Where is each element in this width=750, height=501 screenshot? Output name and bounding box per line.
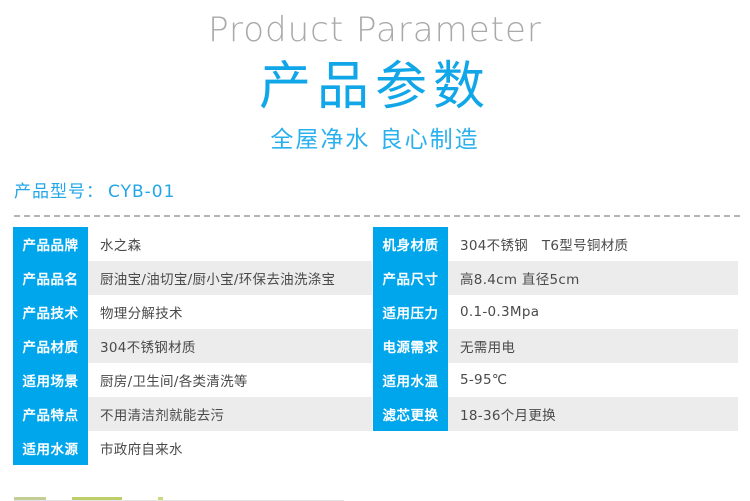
spec_table_right-label-2: 适用压力 [373, 295, 448, 329]
spec_table_left-label-3: 产品材质 [13, 329, 88, 363]
spec_table_right-value-5: 18-36个月更换 [448, 397, 738, 431]
spec_table_left-label-1: 产品品名 [13, 261, 88, 295]
table-row: 产品品名厨油宝/油切宝/厨小宝/环保去油洗涤宝 [13, 261, 372, 295]
table-row: 适用压力0.1-0.3Mpa [373, 295, 738, 329]
spec_table_right-value-1: 高8.4cm 直径5cm [448, 261, 738, 295]
bottom-clipped-section [0, 494, 750, 501]
table-row: 适用场景厨房/卫生间/各类清洗等 [13, 363, 372, 397]
spec_table_left-value-1: 厨油宝/油切宝/厨小宝/环保去油洗涤宝 [88, 261, 372, 295]
spec_table_left-value-6: 市政府自来水 [88, 431, 372, 465]
spec_table_left-value-3: 304不锈钢材质 [88, 329, 372, 363]
spec_table_right-value-3: 无需用电 [448, 329, 738, 363]
page-title-chinese: 产品参数 [0, 56, 750, 118]
spec-table-left: 产品品牌水之森产品品名厨油宝/油切宝/厨小宝/环保去油洗涤宝产品技术物理分解技术… [13, 227, 372, 465]
spec_table_left-label-2: 产品技术 [13, 295, 88, 329]
spec_table_left-value-2: 物理分解技术 [88, 295, 372, 329]
spec_table_left-label-4: 适用场景 [13, 363, 88, 397]
product-model-row: 产品型号：CYB-01 [0, 180, 750, 204]
table-row: 产品尺寸高8.4cm 直径5cm [373, 261, 738, 295]
spec_table_right-value-4: 5-95℃ [448, 363, 738, 397]
spec_table_left-value-4: 厨房/卫生间/各类清洗等 [88, 363, 372, 397]
product-model-label: 产品型号： [14, 182, 104, 202]
spec_table_left-label-6: 适用水源 [13, 431, 88, 465]
spec_table_right-label-3: 电源需求 [373, 329, 448, 363]
product-model-value: CYB-01 [108, 182, 175, 202]
spec_table_right-value-2: 0.1-0.3Mpa [448, 295, 738, 329]
page-header: Product Parameter 产品参数 全屋净水 良心制造 [0, 0, 750, 156]
table-row: 滤芯更换18-36个月更换 [373, 397, 738, 431]
table-row: 适用水源市政府自来水 [13, 431, 372, 465]
spec_table_left-value-0: 水之森 [88, 227, 372, 261]
table-row: 产品特点不用清洁剂就能去污 [13, 397, 372, 431]
table-row: 电源需求无需用电 [373, 329, 738, 363]
page-title-english: Product Parameter [0, 8, 750, 52]
spec-table-right: 机身材质304不锈钢 T6型号铜材质产品尺寸高8.4cm 直径5cm适用压力0.… [373, 227, 738, 431]
spec_table_left-label-0: 产品品牌 [13, 227, 88, 261]
spec_table_right-label-4: 适用水温 [373, 363, 448, 397]
spec_table_left-value-5: 不用清洁剂就能去污 [88, 397, 372, 431]
spec_table_right-value-0: 304不锈钢 T6型号铜材质 [448, 227, 738, 261]
table-row: 产品材质304不锈钢材质 [13, 329, 372, 363]
table-row: 机身材质304不锈钢 T6型号铜材质 [373, 227, 738, 261]
spec_table_right-label-1: 产品尺寸 [373, 261, 448, 295]
page-subtitle: 全屋净水 良心制造 [0, 124, 750, 156]
table-row: 产品品牌水之森 [13, 227, 372, 261]
table-row: 适用水温5-95℃ [373, 363, 738, 397]
spec_table_right-label-5: 滤芯更换 [373, 397, 448, 431]
specification-tables: 产品品牌水之森产品品名厨油宝/油切宝/厨小宝/环保去油洗涤宝产品技术物理分解技术… [0, 227, 750, 465]
table-row: 产品技术物理分解技术 [13, 295, 372, 329]
dashed-divider [14, 215, 740, 217]
spec_table_left-label-5: 产品特点 [13, 397, 88, 431]
spec_table_right-label-0: 机身材质 [373, 227, 448, 261]
